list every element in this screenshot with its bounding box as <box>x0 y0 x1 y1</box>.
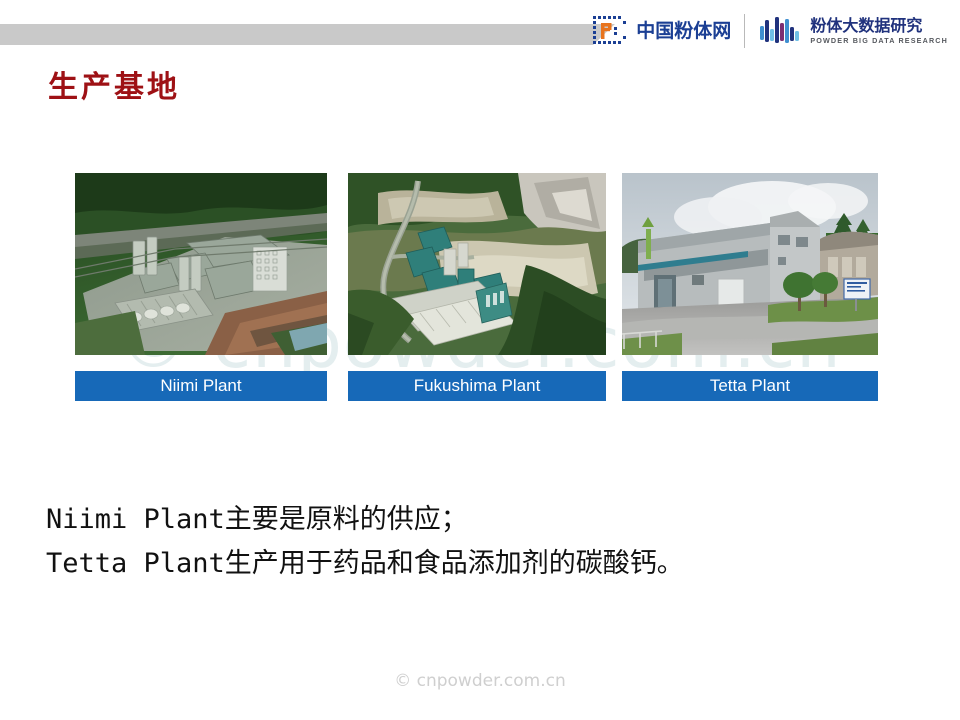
powder-bigdata-logo-text-cn: 粉体大数据研究 <box>810 18 948 34</box>
header-accent-band <box>0 24 615 45</box>
brand-logo-group: 中国粉体网 粉体大数据研究 POWDER BIG DATA RESEARCH <box>589 8 948 54</box>
plant-photo-fukushima <box>348 173 606 355</box>
footer-watermark: © cnpowder.com.cn <box>0 671 960 691</box>
powder-bigdata-logo: 粉体大数据研究 POWDER BIG DATA RESEARCH <box>758 8 948 54</box>
body-line-2: Tetta Plant生产用于药品和食品添加剂的碳酸钙。 <box>46 542 926 586</box>
powder-bigdata-logo-text-en: POWDER BIG DATA RESEARCH <box>810 37 948 44</box>
powder-bigdata-logo-icon <box>758 14 802 48</box>
plant-photo-card-niimi: Niimi Plant <box>75 173 327 401</box>
cnpowder-logo: 中国粉体网 <box>589 8 731 54</box>
plant-caption-niimi: Niimi Plant <box>75 371 327 401</box>
body-text-block: Niimi Plant主要是原料的供应； Tetta Plant生产用于药品和食… <box>46 498 926 585</box>
body-line-1: Niimi Plant主要是原料的供应； <box>46 498 926 542</box>
plant-photo-niimi <box>75 173 327 355</box>
page-title: 生产基地 <box>48 69 180 107</box>
plant-photo-row: Niimi Plant <box>0 173 960 413</box>
cnpowder-logo-text: 中国粉体网 <box>636 22 731 41</box>
plant-caption-fukushima: Fukushima Plant <box>348 371 606 401</box>
cnpowder-logo-icon <box>589 14 629 48</box>
powder-bigdata-text-block: 粉体大数据研究 POWDER BIG DATA RESEARCH <box>810 18 948 44</box>
plant-photo-card-fukushima: Fukushima Plant <box>348 173 606 401</box>
plant-caption-tetta: Tetta Plant <box>622 371 878 401</box>
plant-photo-tetta <box>622 173 878 355</box>
plant-photo-card-tetta: Tetta Plant <box>622 173 878 401</box>
logo-divider <box>744 14 745 48</box>
